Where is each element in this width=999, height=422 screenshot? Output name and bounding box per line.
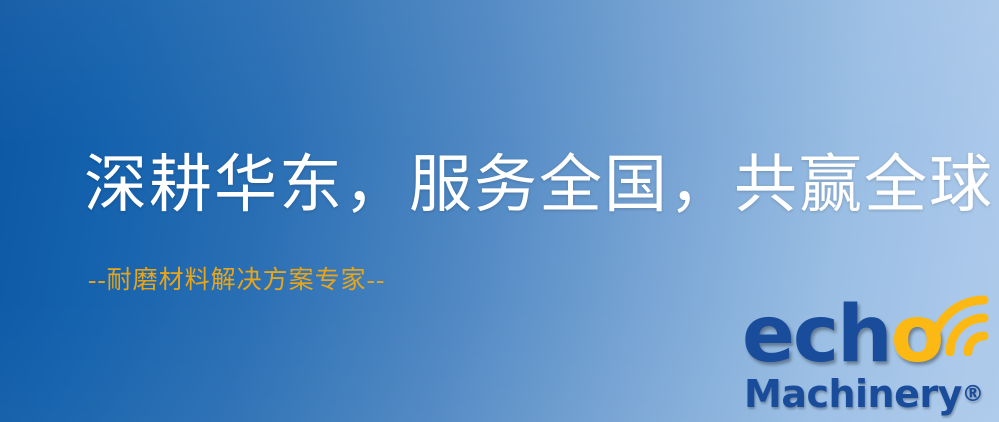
hero-banner: 深耕华东，服务全国，共赢全球 --耐磨材料解决方案专家-- echo Machi…	[0, 0, 999, 422]
signal-waves-icon	[926, 294, 996, 356]
logo-wordmark: echo	[742, 296, 942, 374]
registered-trademark-icon: ®	[962, 382, 984, 407]
company-logo[interactable]: echo Machinery®	[742, 296, 994, 420]
banner-subtitle: --耐磨材料解决方案专家--	[88, 266, 385, 296]
logo-tagline-text: Machinery	[744, 372, 962, 416]
logo-tagline: Machinery®	[744, 374, 984, 415]
banner-headline: 深耕华东，服务全国，共赢全球	[84, 152, 994, 218]
logo-wordmark-ech: ech	[742, 290, 891, 380]
